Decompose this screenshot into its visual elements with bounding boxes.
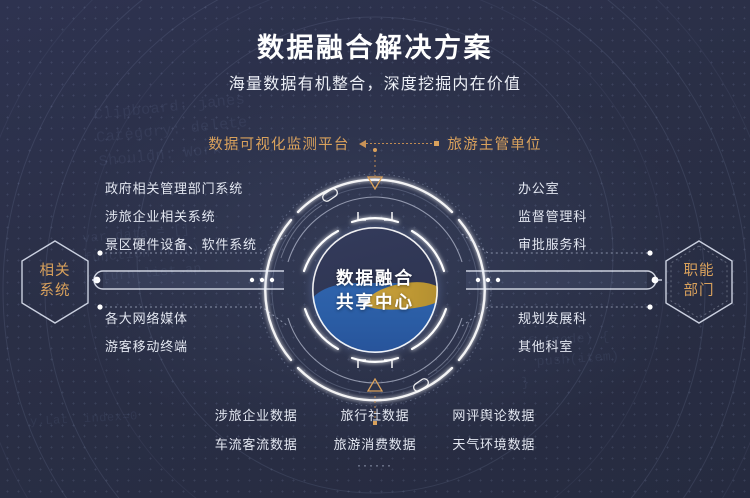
sphere-line2: 共享中心: [336, 290, 414, 314]
label-visualization-platform: 数据可视化监测平台: [208, 133, 349, 154]
list-item: 其他科室: [518, 336, 573, 355]
bottom-column-3: 网评舆论数据 天气环境数据: [452, 405, 535, 453]
left-top-source-list: 政府相关管理部门系统 涉旅企业相关系统 景区硬件设备、软件系统: [105, 178, 257, 253]
list-item: 旅行社数据: [340, 405, 409, 424]
bottom-column-1: 涉旅企业数据 车流客流数据: [215, 405, 298, 453]
list-item: 涉旅企业相关系统: [105, 206, 215, 225]
list-item: 网评舆论数据: [452, 405, 535, 424]
sphere-line1: 数据融合: [336, 266, 414, 290]
hexagon-right-text: 职能 部门: [684, 262, 715, 301]
list-item: 车流客流数据: [215, 434, 298, 453]
arrow-head-icon: [359, 140, 366, 148]
triangle-up-icon: [367, 378, 383, 392]
list-item: 审批服务科: [518, 234, 587, 253]
arrow-endpoint-square-icon: [434, 141, 439, 146]
bottom-data-grid: 涉旅企业数据 车流客流数据 旅行社数据 旅游消费数据 网评舆论数据 天气环境数据: [0, 405, 750, 453]
list-item: 旅游消费数据: [334, 434, 417, 453]
list-item: 规划发展科: [518, 308, 587, 327]
hexagon-related-systems[interactable]: 相关 系统: [18, 239, 92, 325]
list-item: 各大网络媒体: [105, 308, 188, 327]
page-subtitle: 海量数据有机整合，深度挖掘内在价值: [0, 70, 750, 94]
top-flow-row: 数据可视化监测平台 旅游主管单位: [0, 133, 750, 154]
hexagon-functional-departments[interactable]: 职能 部门: [662, 239, 736, 325]
arrow-dotted-line: [366, 143, 434, 144]
list-item: 涉旅企业数据: [215, 405, 298, 424]
infographic-canvas: Clipboard: janes Category: delete Should…: [0, 0, 750, 498]
bottom-ellipsis: ······: [0, 458, 750, 472]
right-top-department-list: 办公室 监督管理科 审批服务科: [518, 178, 587, 253]
list-item: 办公室: [518, 178, 559, 197]
sphere-label: 数据融合 共享中心: [312, 227, 438, 353]
flow-arrow-left-icon: [359, 140, 439, 148]
list-item: 游客移动终端: [105, 336, 188, 355]
label-tourism-authority: 旅游主管单位: [448, 133, 542, 154]
hexagon-left-text: 相关 系统: [40, 262, 71, 301]
hex-left-line2: 系统: [40, 282, 71, 302]
list-item: 景区硬件设备、软件系统: [105, 234, 257, 253]
hex-left-line1: 相关: [40, 262, 71, 282]
list-item: 天气环境数据: [452, 434, 535, 453]
data-fusion-center-sphere[interactable]: 数据融合 共享中心: [312, 227, 438, 353]
hex-right-line1: 职能: [684, 262, 715, 282]
page-title: 数据融合解决方案: [0, 26, 750, 65]
left-bottom-source-list: 各大网络媒体 游客移动终端: [105, 308, 188, 355]
bottom-column-2: 旅行社数据 旅游消费数据: [334, 405, 417, 453]
triangle-down-icon: [367, 176, 383, 190]
list-item: 政府相关管理部门系统: [105, 178, 243, 197]
hex-right-line2: 部门: [684, 282, 715, 302]
right-bottom-department-list: 规划发展科 其他科室: [518, 308, 587, 355]
list-item: 监督管理科: [518, 206, 587, 225]
